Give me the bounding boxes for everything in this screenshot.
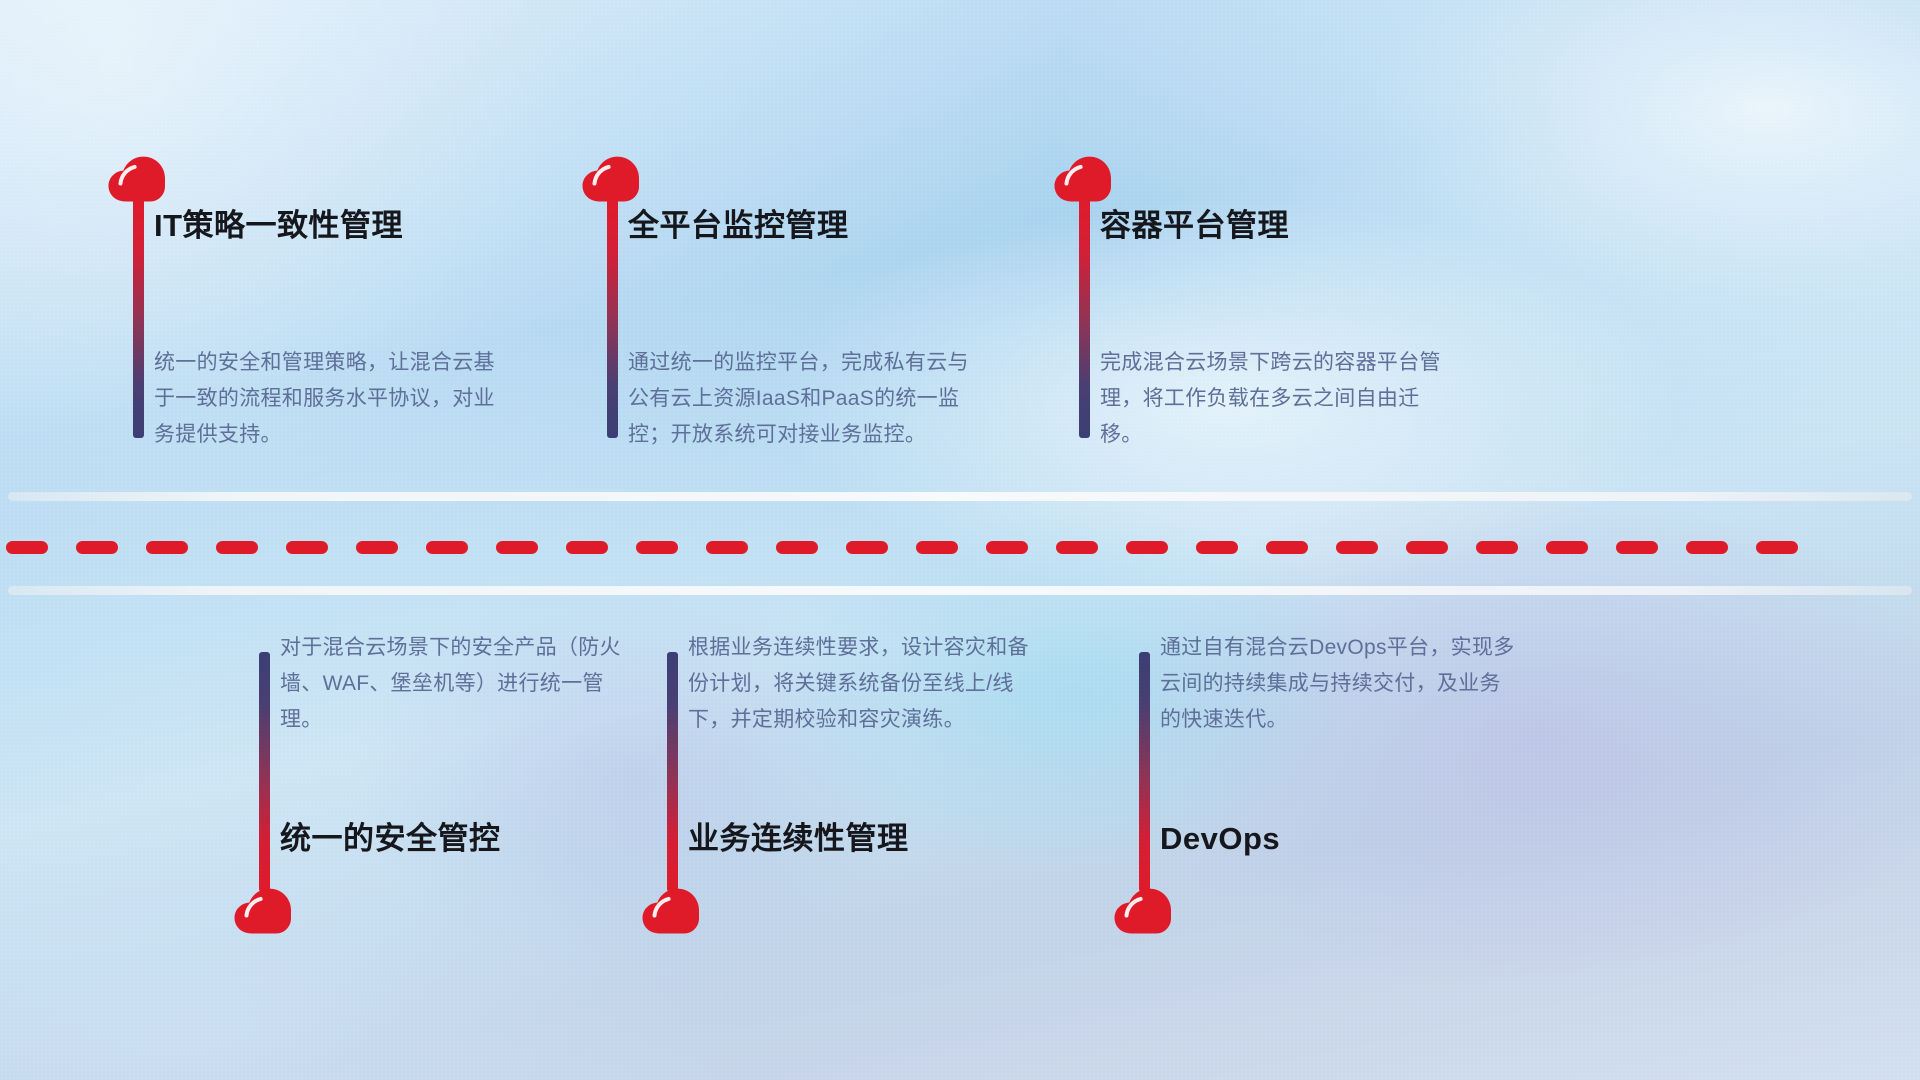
card-body: 通过统一的监控平台，完成私有云与公有云上资源IaaS和PaaS的统一监控；开放系…	[628, 345, 988, 453]
card-body: 根据业务连续性要求，设计容灾和备份计划，将关键系统备份至线上/线下，并定期校验和…	[688, 630, 1048, 738]
stem-line	[259, 652, 270, 892]
stem-line	[133, 198, 144, 438]
divider-dashed-line	[0, 540, 1920, 554]
divider-dash	[1196, 541, 1238, 554]
divider-dash	[426, 541, 468, 554]
stem-line	[1139, 652, 1150, 892]
divider-dash	[1756, 541, 1798, 554]
card-body: 对于混合云场景下的安全产品（防火墙、WAF、堡垒机等）进行统一管理。	[280, 630, 640, 738]
card-body: 通过自有混合云DevOps平台，实现多云间的持续集成与持续交付，及业务的快速迭代…	[1160, 630, 1520, 738]
card-title: 业务连续性管理	[688, 820, 909, 857]
feature-card-devops: 通过自有混合云DevOps平台，实现多云间的持续集成与持续交付，及业务的快速迭代…	[1088, 630, 1548, 935]
infographic-stage: IT策略一致性管理 统一的安全和管理策略，让混合云基于一致的流程和服务水平协议，…	[0, 0, 1920, 1080]
stem-line	[607, 198, 618, 438]
card-title: 统一的安全管控	[280, 820, 501, 857]
divider-dash	[1266, 541, 1308, 554]
feature-card-business-continuity: 根据业务连续性要求，设计容灾和备份计划，将关键系统备份至线上/线下，并定期校验和…	[616, 630, 1076, 935]
divider-dash	[986, 541, 1028, 554]
divider-dash	[356, 541, 398, 554]
divider-dash	[1406, 541, 1448, 554]
feature-card-unified-security: 对于混合云场景下的安全产品（防火墙、WAF、堡垒机等）进行统一管理。 统一的安全…	[208, 630, 668, 935]
cloud-pin-icon	[107, 155, 169, 203]
divider-dash	[216, 541, 258, 554]
divider-dash	[706, 541, 748, 554]
cloud-pin-icon	[1113, 887, 1175, 935]
stem-line	[1079, 198, 1090, 438]
divider-dash	[1686, 541, 1728, 554]
divider-dash	[76, 541, 118, 554]
card-title: IT策略一致性管理	[154, 207, 403, 244]
divider-dash	[6, 541, 48, 554]
divider-dash	[1336, 541, 1378, 554]
divider-dash	[1546, 541, 1588, 554]
cloud-pin-icon	[1053, 155, 1115, 203]
card-title: 全平台监控管理	[628, 207, 849, 244]
cloud-pin-icon	[233, 887, 295, 935]
card-title: DevOps	[1160, 820, 1280, 857]
divider-dash	[566, 541, 608, 554]
divider-dash	[776, 541, 818, 554]
divider-dash	[916, 541, 958, 554]
divider-rail-bottom	[8, 586, 1912, 595]
divider-dash	[1616, 541, 1658, 554]
divider-dash	[636, 541, 678, 554]
stem-line	[667, 652, 678, 892]
divider-rail-top	[8, 492, 1912, 501]
divider-dash	[146, 541, 188, 554]
cloud-pin-icon	[581, 155, 643, 203]
divider-dash	[1126, 541, 1168, 554]
divider-dash	[1056, 541, 1098, 554]
divider-dash	[846, 541, 888, 554]
divider-dash	[1476, 541, 1518, 554]
divider-dash	[496, 541, 538, 554]
card-body: 统一的安全和管理策略，让混合云基于一致的流程和服务水平协议，对业务提供支持。	[154, 345, 514, 453]
cloud-pin-icon	[641, 887, 703, 935]
divider-dash	[286, 541, 328, 554]
card-body: 完成混合云场景下跨云的容器平台管理，将工作负载在多云之间自由迁移。	[1100, 345, 1460, 453]
card-title: 容器平台管理	[1100, 207, 1289, 244]
